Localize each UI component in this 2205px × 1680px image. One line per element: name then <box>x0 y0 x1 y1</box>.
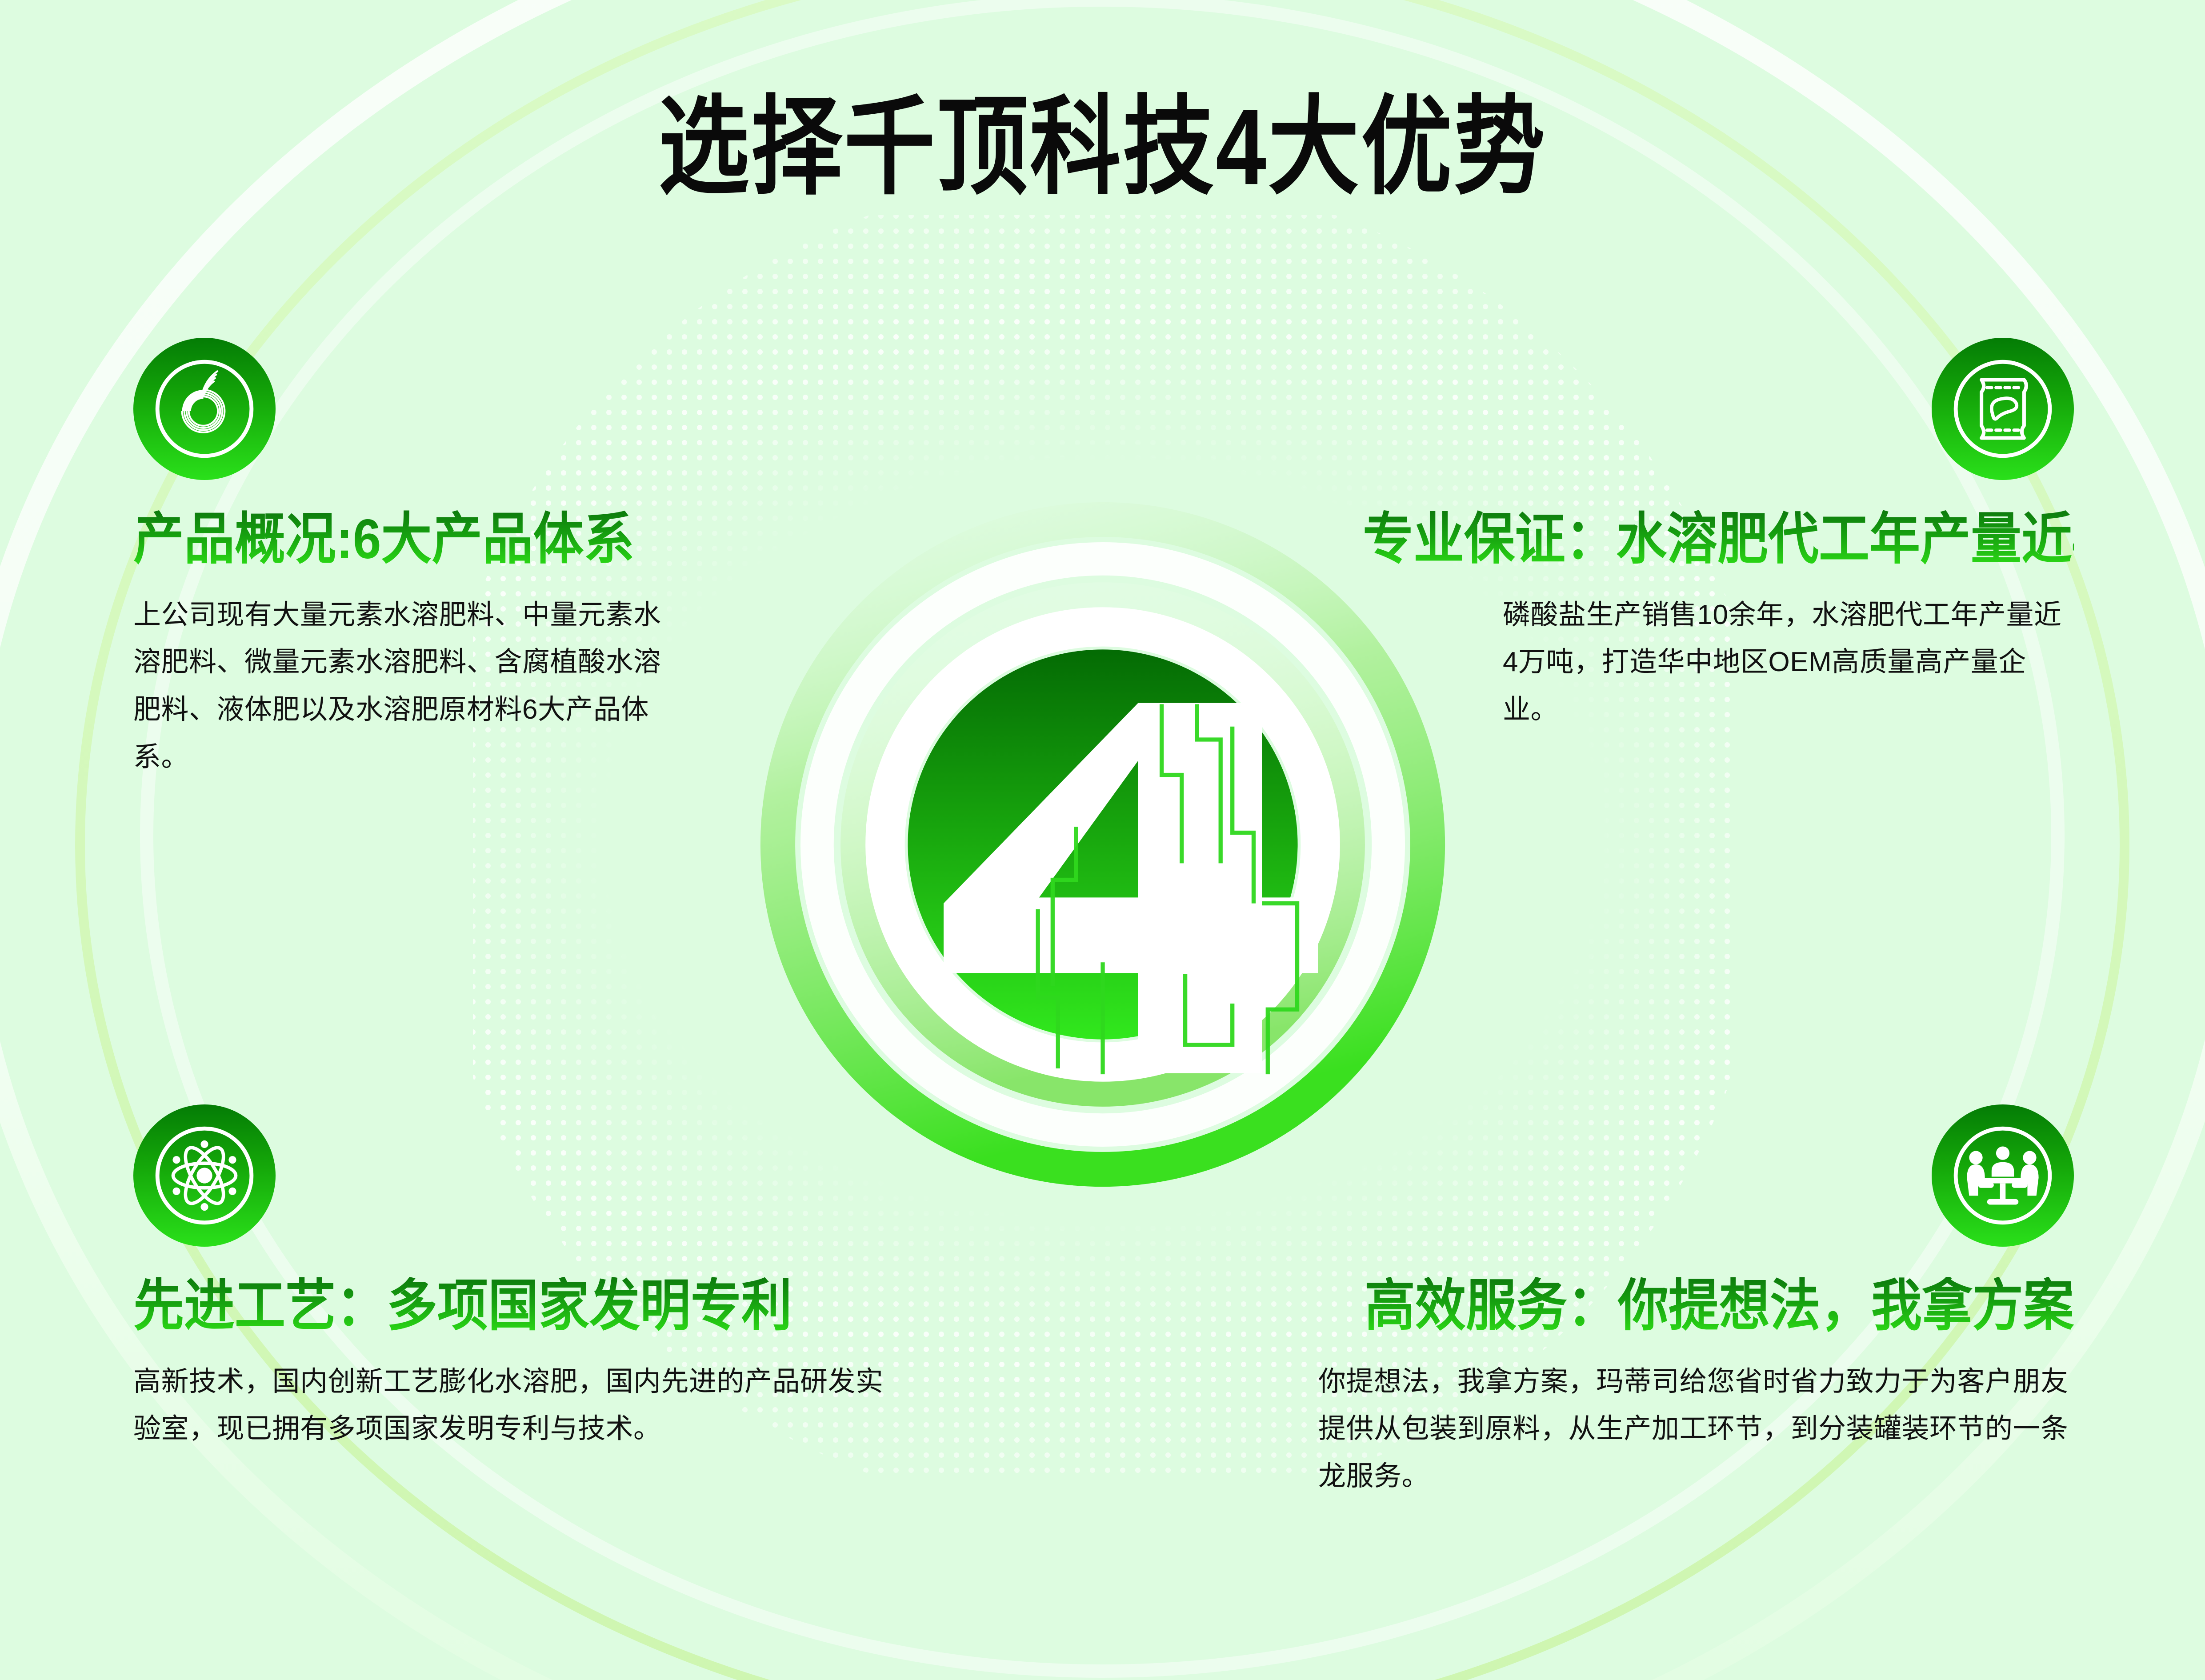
advantage-body: 磷酸盐生产销售10余年，水溶肥代工年产量近4万吨，打造华中地区OEM高质量高产量… <box>1503 592 2074 734</box>
advantage-body: 上公司现有大量元素水溶肥料、中量元素水溶肥料、微量元素水溶肥料、含腐植酸水溶肥料… <box>133 592 684 781</box>
advantage-body: 你提想法，我拿方案，玛蒂司给您省时省力致力于为客户朋友提供从包装到原料，从生产加… <box>1318 1358 2074 1500</box>
advantage-heading: 产品概况:6大产品体系 <box>133 510 707 569</box>
meeting-people-icon <box>1932 1104 2074 1247</box>
advantage-card-efficient-service: 高效服务：你提想法，我拿方案 你提想法，我拿方案，玛蒂司给您省时省力致力于为客户… <box>1301 1104 2074 1500</box>
advantage-heading: 高效服务：你提想法，我拿方案 <box>1301 1277 2074 1336</box>
advantage-card-product-overview: 产品概况:6大产品体系 上公司现有大量元素水溶肥料、中量元素水溶肥料、微量元素水… <box>133 338 707 781</box>
number-six-circle-icon <box>133 338 276 480</box>
advantage-card-professional-guarantee: 专业保证：水溶肥代工年产量近4万吨 磷酸盐生产销售10余年，水溶肥代工年产量近4… <box>1363 338 2074 734</box>
advantage-heading: 专业保证：水溶肥代工年产量近4万吨 <box>1363 510 2074 569</box>
advantage-body: 高新技术，国内创新工艺膨化水溶肥，国内先进的产品研发实验室，现已拥有多项国家发明… <box>133 1358 884 1453</box>
advantage-heading: 先进工艺：多项国家发明专利 <box>133 1277 898 1336</box>
page-title: 选择千顶科技4大优势 <box>0 93 2205 201</box>
advantage-card-advanced-process: 先进工艺：多项国家发明专利 高新技术，国内创新工艺膨化水溶肥，国内先进的产品研发… <box>133 1104 898 1453</box>
fertilizer-bag-icon <box>1932 338 2074 480</box>
atom-icon <box>133 1104 276 1247</box>
